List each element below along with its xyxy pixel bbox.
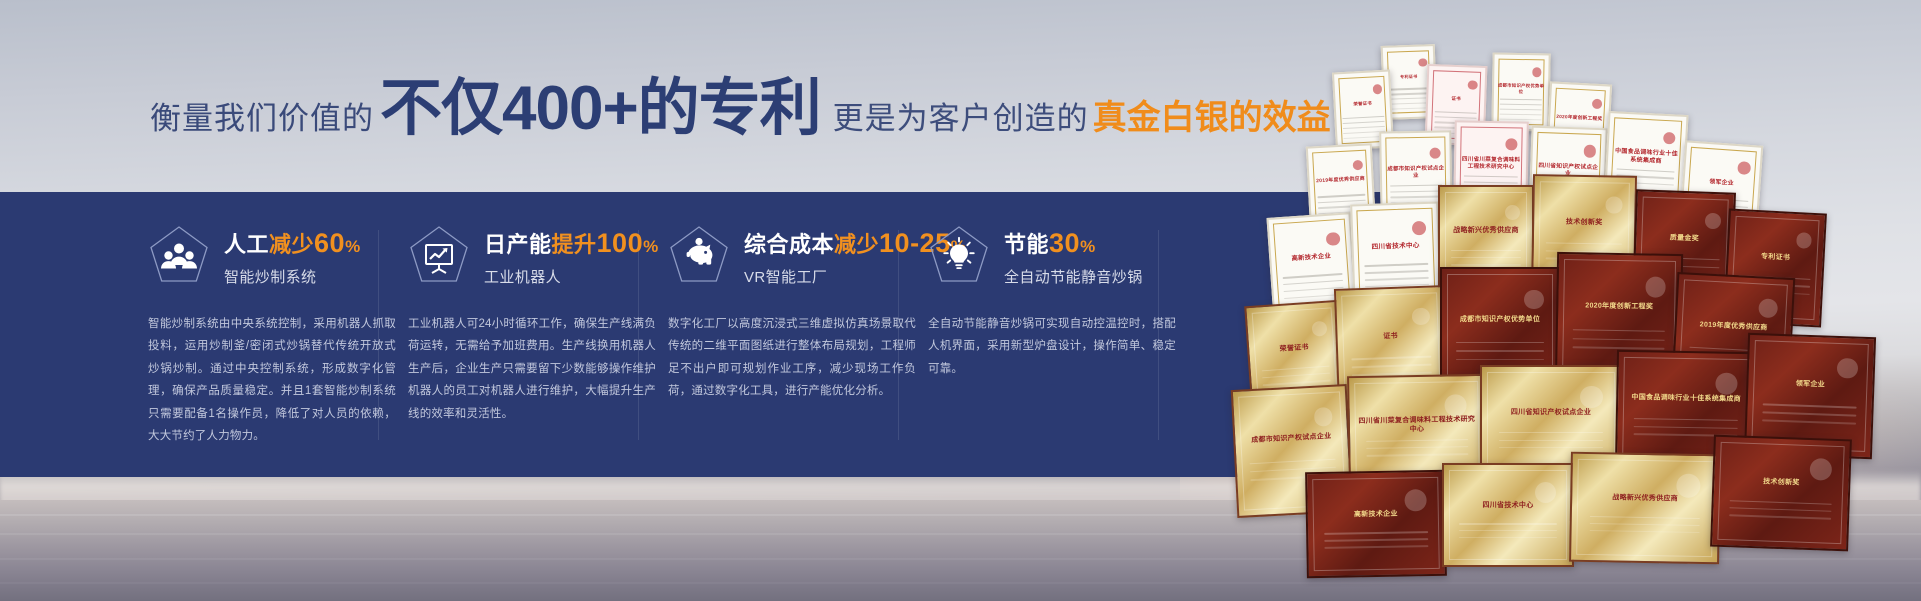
people-group-icon (148, 224, 210, 286)
certificate-text-line (1456, 350, 1544, 351)
certificate-seal (1583, 145, 1596, 158)
certificate-seal (1418, 58, 1427, 67)
headline-lead: 衡量我们价值的 (150, 93, 374, 138)
feature-title-prefix: 节能 (1004, 232, 1049, 257)
certificate-wall: 专利证书荣誉证书证书成都市知识产权优势单位2020年度创新工程奖2019年度优秀… (1230, 35, 1921, 565)
feature-title-percent: % (643, 237, 659, 256)
certificate-seal (1524, 290, 1543, 309)
certificate-seal (1605, 196, 1622, 213)
certificate-text-line (1451, 264, 1521, 265)
certificate-title: 技术创新奖 (1540, 219, 1628, 229)
certificate-seal (1532, 68, 1541, 77)
certificate-title: 成都市知识产权优势单位 (1497, 83, 1545, 95)
certificate-text-line (1451, 250, 1521, 251)
feature-title-prefix: 人工 (224, 232, 269, 257)
certificate-seal (1837, 357, 1858, 378)
certificate-item[interactable]: 成都市知识产权优势单位 (1491, 52, 1550, 131)
lightbulb-icon (928, 224, 990, 286)
feature-item-1[interactable]: 人工减少60% 智能炒制系统 智能炒制系统由中央系统控制，采用机器人抓取投料，运… (148, 222, 418, 448)
certificate-title: 成都市知识产权优势单位 (1449, 316, 1551, 325)
feature-description: 智能炒制系统由中央系统控制，采用机器人抓取投料，运用炒制釜/密闭式炒锅替代传统开… (148, 313, 396, 448)
certificate-seal (1580, 386, 1603, 409)
feature-description: 数字化工厂以高度沉浸式三维虚拟仿真场景取代传统的二维平面图纸进行整体布局规划，工… (668, 313, 916, 403)
certificate-seal (1645, 277, 1666, 298)
headline: 衡量我们价值的 不仅400+的专利 更是为客户创造的 真金白银的效益 (150, 78, 1331, 140)
feature-title: 日产能提升100% (484, 228, 659, 259)
certificate-title: 四川省川菜复合调味料工程技术研究中心 (1460, 156, 1522, 171)
feature-title-prefix: 综合成本 (744, 232, 834, 257)
certificate-seal (1535, 482, 1556, 503)
certificate-seal (1506, 138, 1518, 150)
feature-title-prefix: 日产能 (484, 232, 552, 257)
feature-item-4[interactable]: 节能30% 全自动节能静音炒锅 全自动节能静音炒锅可实现自动控温控时，搭配人机界… (928, 222, 1198, 380)
certificate-seal (1372, 84, 1382, 94)
certificate-item[interactable]: 高新技术企业 (1305, 470, 1447, 578)
feature-description: 工业机器人可24小时循环工作，确保生产线满负荷运转，无需给予加班费用。生产线换用… (408, 313, 656, 425)
certificate-title: 2020年度创新工程奖 (1565, 302, 1673, 313)
feature-title-percent: % (345, 237, 361, 256)
headline-middle: 更是为客户创造的 (833, 93, 1089, 138)
feature-title-highlight: 减少 (269, 232, 314, 257)
certificate-seal (1676, 473, 1700, 497)
certificate-seal (1591, 99, 1601, 109)
certificate-title: 四川省技术中心 (1452, 502, 1565, 511)
promo-banner: 衡量我们价值的 不仅400+的专利 更是为客户创造的 真金白银的效益 (0, 0, 1921, 601)
certificate-text-line (1456, 359, 1544, 360)
feature-title: 节能30% (1004, 228, 1143, 259)
feature-subtitle: 全自动节能静音炒锅 (1004, 266, 1143, 287)
certificate-title: 战略新兴优秀供应商 (1446, 227, 1527, 236)
feature-title-highlight: 提升 (552, 232, 597, 257)
feature-title-highlight: 减少 (834, 232, 879, 257)
chart-board-icon (408, 224, 470, 286)
certificate-title: 四川省川菜复合调味料工程技术研究中心 (1358, 416, 1476, 436)
feature-title-number: 100 (597, 228, 644, 258)
certificate-text-line (1459, 523, 1556, 524)
certificate-item[interactable]: 战略新兴优秀供应商 (1569, 452, 1721, 565)
features-panel: 人工减少60% 智能炒制系统 智能炒制系统由中央系统控制，采用机器人抓取投料，运… (0, 192, 1417, 477)
certificate-text-line (1456, 342, 1544, 343)
certificate-seal (1737, 161, 1750, 174)
feature-title: 人工减少60% (224, 228, 361, 259)
certificate-title: 成都市知识产权试点企业 (1386, 166, 1446, 181)
certificate-text-line (1459, 537, 1556, 538)
piggy-bank-icon (668, 224, 730, 286)
certificate-seal (1705, 212, 1722, 229)
feature-subtitle: 智能炒制系统 (224, 266, 361, 287)
feature-description: 全自动节能静音炒锅可实现自动控温控时，搭配人机界面，采用新型炉盘设计，操作简单、… (928, 313, 1176, 380)
feature-title-number: 30 (1049, 228, 1080, 258)
feature-subtitle: 工业机器人 (484, 266, 659, 287)
feature-title-percent: % (1080, 237, 1096, 256)
certificate-item[interactable]: 技术创新奖 (1710, 435, 1852, 552)
certificate-text-line (1499, 440, 1604, 441)
feature-title-number: 60 (314, 228, 345, 258)
certificate-item[interactable]: 四川省技术中心 (1442, 463, 1574, 567)
feature-item-3[interactable]: 综合成本减少10-25% VR智能工厂 数字化工厂以高度沉浸式三维虚拟仿真场景取… (668, 222, 938, 403)
certificate-title: 四川省知识产权试点企业 (1490, 409, 1611, 418)
headline-emphasis: 不仅400+的专利 (380, 78, 821, 140)
feature-item-2[interactable]: 日产能提升100% 工业机器人 工业机器人可24小时循环工作，确保生产线满负荷运… (408, 222, 678, 425)
